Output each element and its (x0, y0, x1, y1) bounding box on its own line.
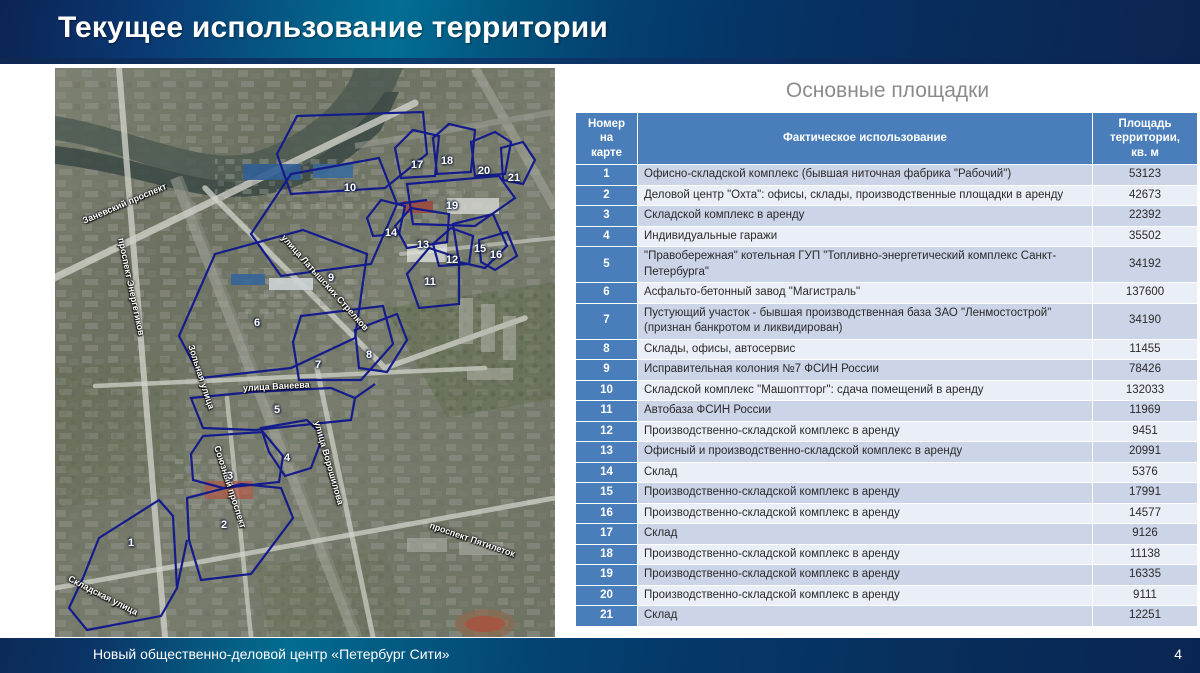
cell-actual-usage: Производственно-складской комплекс в аре… (638, 483, 1093, 504)
table-row: 12Производственно-складской комплекс в а… (576, 421, 1198, 442)
cell-actual-usage: Индивидуальные гаражи (638, 226, 1093, 247)
table-row: 2Деловой центр "Охта": офисы, склады, пр… (576, 185, 1198, 206)
cell-area: 11969 (1093, 401, 1198, 422)
column-header-area: Площадь территории, кв. м (1093, 113, 1198, 165)
cell-area: 16335 (1093, 565, 1198, 586)
cell-map-number: 1 (576, 165, 638, 186)
table-header-row: Номер на карте Фактическое использование… (576, 113, 1198, 165)
cell-actual-usage: Деловой центр "Охта": офисы, склады, про… (638, 185, 1093, 206)
map-plot-number[interactable]: 5 (274, 404, 280, 416)
map-plot-number[interactable]: 21 (508, 172, 520, 184)
cell-area: 9111 (1093, 585, 1198, 606)
cell-area: 11455 (1093, 339, 1198, 360)
map-plot-number[interactable]: 6 (254, 317, 260, 329)
cell-map-number: 11 (576, 401, 638, 422)
cell-area: 34190 (1093, 303, 1198, 339)
cell-area: 35502 (1093, 226, 1198, 247)
table-row: 13Офисный и производственно-складской ко… (576, 442, 1198, 463)
map-plot-number[interactable]: 17 (411, 159, 423, 171)
map-plot-number[interactable]: 16 (490, 249, 502, 261)
map-plot-number[interactable]: 15 (474, 243, 486, 255)
header-area-line2: территории, (1110, 132, 1180, 144)
cell-map-number: 17 (576, 524, 638, 545)
slide: Текущее использование территории (0, 0, 1200, 673)
cell-map-number: 3 (576, 206, 638, 227)
cell-map-number: 19 (576, 565, 638, 586)
map-plot-number[interactable]: 10 (344, 182, 356, 194)
cell-area: 53123 (1093, 165, 1198, 186)
cell-area: 137600 (1093, 283, 1198, 304)
map-plot-number[interactable]: 11 (424, 276, 436, 288)
cell-actual-usage: Производственно-складской комплекс в аре… (638, 503, 1093, 524)
footer-text: Новый общественно-деловой центр «Петербу… (93, 646, 450, 662)
cell-actual-usage: Склад (638, 462, 1093, 483)
cell-area: 34192 (1093, 247, 1198, 283)
cell-map-number: 5 (576, 247, 638, 283)
table-row: 10Складской комплекс "Машоптторг": сдача… (576, 380, 1198, 401)
table-row: 7Пустующий участок - бывшая производстве… (576, 303, 1198, 339)
map-plot-number[interactable]: 12 (446, 254, 458, 266)
cell-actual-usage: Склады, офисы, автосервис (638, 339, 1093, 360)
header-area-line1: Площадь (1118, 118, 1171, 130)
cell-actual-usage: Производственно-складской комплекс в аре… (638, 544, 1093, 565)
cell-actual-usage: Офисный и производственно-складской комп… (638, 442, 1093, 463)
table-row: 16Производственно-складской комплекс в а… (576, 503, 1198, 524)
sites-table-body: 1Офисно-складской комплекс (бывшая ниточ… (576, 165, 1198, 627)
cell-actual-usage: Склад (638, 606, 1093, 627)
map-plot-number[interactable]: 3 (227, 470, 233, 482)
map-plot-number[interactable]: 1 (128, 537, 134, 549)
table-row: 6Асфальто-бетонный завод "Магистраль"137… (576, 283, 1198, 304)
cell-map-number: 9 (576, 360, 638, 381)
cell-map-number: 21 (576, 606, 638, 627)
table-row: 15Производственно-складской комплекс в а… (576, 483, 1198, 504)
cell-area: 132033 (1093, 380, 1198, 401)
cell-area: 5376 (1093, 462, 1198, 483)
cell-map-number: 7 (576, 303, 638, 339)
table-row: 21Склад12251 (576, 606, 1198, 627)
cell-map-number: 14 (576, 462, 638, 483)
table-row: 17Склад9126 (576, 524, 1198, 545)
aerial-map[interactable]: Заневский проспектпроспект Энергетиковул… (55, 68, 555, 637)
cell-actual-usage: Офисно-складской комплекс (бывшая ниточн… (638, 165, 1093, 186)
table-row: 14Склад5376 (576, 462, 1198, 483)
cell-map-number: 6 (576, 283, 638, 304)
table-row: 20Производственно-складской комплекс в а… (576, 585, 1198, 606)
page-title: Текущее использование территории (58, 11, 608, 45)
cell-actual-usage: Производственно-складской комплекс в аре… (638, 565, 1093, 586)
cell-area: 11138 (1093, 544, 1198, 565)
map-plot-number[interactable]: 7 (315, 359, 321, 371)
table-row: 1Офисно-складской комплекс (бывшая ниточ… (576, 165, 1198, 186)
header-number-line1: Номер (588, 118, 625, 130)
map-canvas (55, 68, 555, 637)
cell-area: 12251 (1093, 606, 1198, 627)
map-plot-number[interactable]: 4 (284, 452, 290, 464)
cell-area: 9451 (1093, 421, 1198, 442)
cell-actual-usage: Производственно-складской комплекс в аре… (638, 421, 1093, 442)
header-number-line3: карте (591, 147, 622, 159)
header-area-line3: кв. м (1131, 147, 1159, 159)
cell-map-number: 4 (576, 226, 638, 247)
cell-actual-usage: Складской комплекс "Машоптторг": сдача п… (638, 380, 1093, 401)
panel-title: Основные площадки (575, 79, 1200, 103)
map-plot-number[interactable]: 9 (328, 272, 334, 284)
table-row: 8Склады, офисы, автосервис11455 (576, 339, 1198, 360)
sites-table: Номер на карте Фактическое использование… (575, 112, 1198, 627)
cell-area: 42673 (1093, 185, 1198, 206)
cell-map-number: 8 (576, 339, 638, 360)
cell-map-number: 10 (576, 380, 638, 401)
cell-area: 17991 (1093, 483, 1198, 504)
map-plot-number[interactable]: 20 (478, 165, 490, 177)
table-row: 4Индивидуальные гаражи35502 (576, 226, 1198, 247)
map-plot-number[interactable]: 8 (366, 349, 372, 361)
page-number: 4 (1174, 646, 1182, 662)
cell-actual-usage: Производственно-складской комплекс в аре… (638, 585, 1093, 606)
title-accent-bar (0, 58, 1200, 64)
map-plot-number[interactable]: 13 (417, 239, 429, 251)
cell-map-number: 20 (576, 585, 638, 606)
header-number-line2: на (600, 132, 613, 144)
cell-actual-usage: Склад (638, 524, 1093, 545)
table-row: 3Складской комплекс в аренду22392 (576, 206, 1198, 227)
table-row: 11Автобаза ФСИН России11969 (576, 401, 1198, 422)
cell-map-number: 16 (576, 503, 638, 524)
table-row: 18Производственно-складской комплекс в а… (576, 544, 1198, 565)
cell-map-number: 15 (576, 483, 638, 504)
cell-map-number: 12 (576, 421, 638, 442)
column-header-number: Номер на карте (576, 113, 638, 165)
cell-actual-usage: Исправительная колония №7 ФСИН России (638, 360, 1093, 381)
map-plot-number[interactable]: 2 (221, 519, 227, 531)
cell-actual-usage: Складской комплекс в аренду (638, 206, 1093, 227)
map-plot-number[interactable]: 18 (441, 155, 453, 167)
cell-actual-usage: Автобаза ФСИН России (638, 401, 1093, 422)
cell-actual-usage: Пустующий участок - бывшая производствен… (638, 303, 1093, 339)
table-row: 5"Правобережная" котельная ГУП "Топливно… (576, 247, 1198, 283)
cell-area: 20991 (1093, 442, 1198, 463)
cell-map-number: 18 (576, 544, 638, 565)
map-plot-number[interactable]: 19 (446, 200, 458, 212)
column-header-usage: Фактическое использование (638, 113, 1093, 165)
cell-area: 9126 (1093, 524, 1198, 545)
cell-area: 14577 (1093, 503, 1198, 524)
cell-actual-usage: Асфальто-бетонный завод "Магистраль" (638, 283, 1093, 304)
table-row: 9Исправительная колония №7 ФСИН России78… (576, 360, 1198, 381)
map-plot-number[interactable]: 14 (385, 227, 397, 239)
cell-map-number: 2 (576, 185, 638, 206)
cell-actual-usage: "Правобережная" котельная ГУП "Топливно-… (638, 247, 1093, 283)
cell-area: 22392 (1093, 206, 1198, 227)
cell-map-number: 13 (576, 442, 638, 463)
cell-area: 78426 (1093, 360, 1198, 381)
table-row: 19Производственно-складской комплекс в а… (576, 565, 1198, 586)
